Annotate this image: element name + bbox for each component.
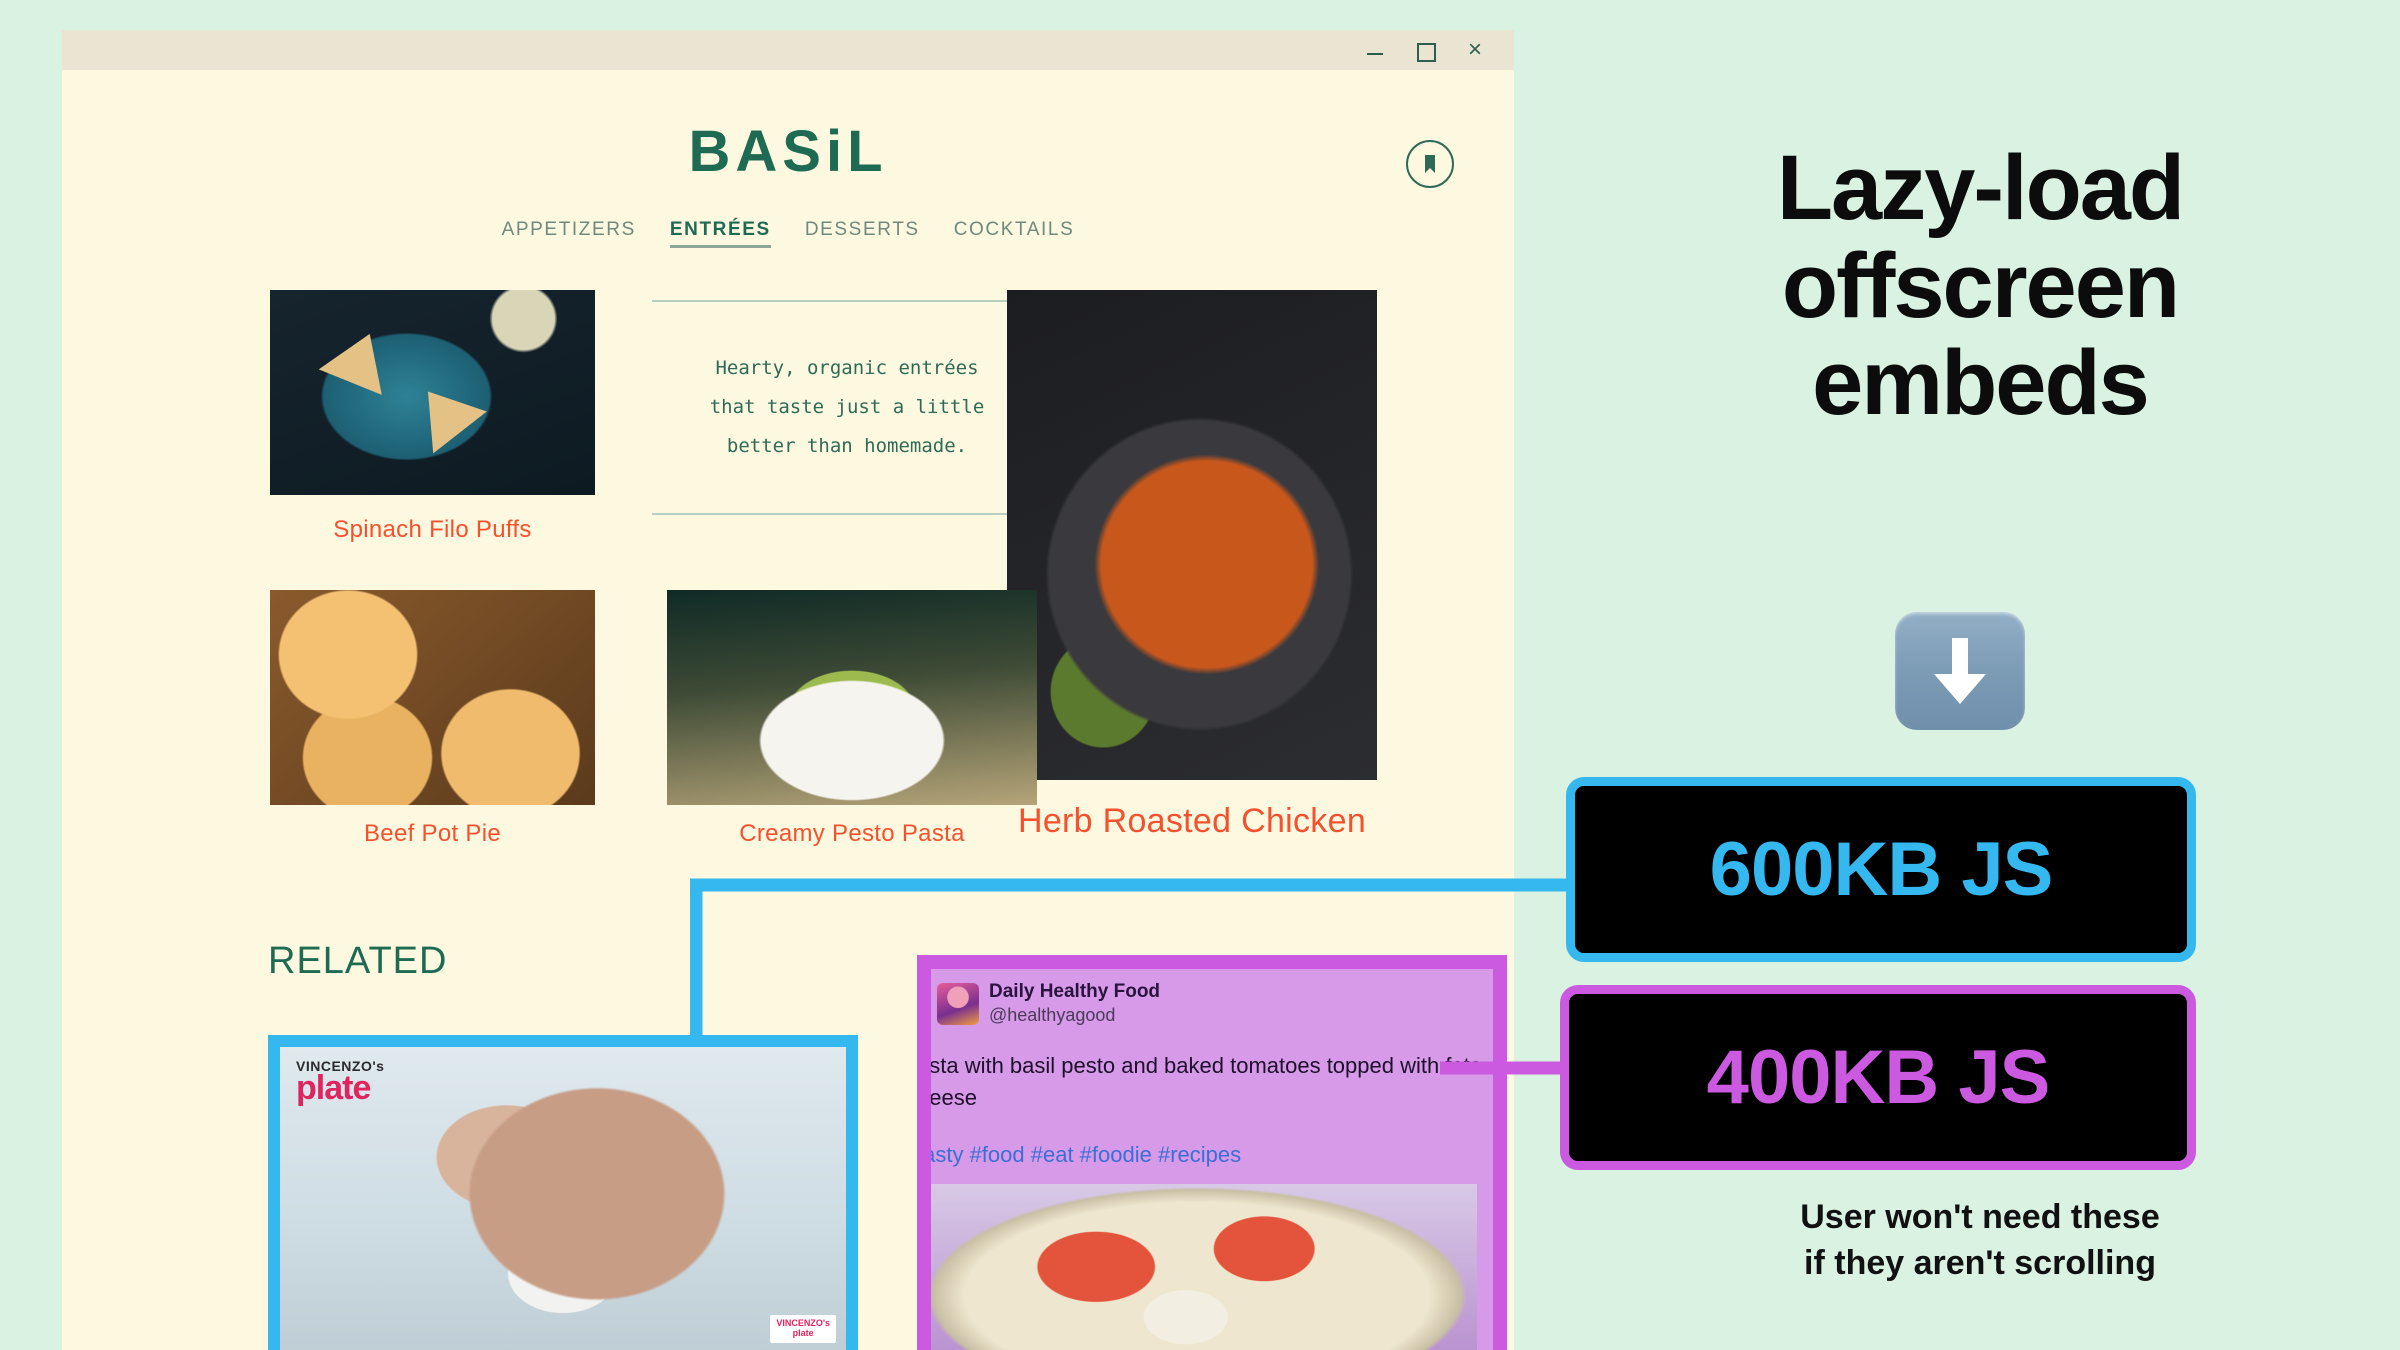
logo-line-2: plate — [296, 1071, 384, 1105]
tagline-line-3: better than homemade. — [710, 427, 985, 466]
minimize-icon[interactable] — [1364, 39, 1386, 61]
footnote-line-1: User won't need these — [1650, 1195, 2310, 1241]
dish-photo-herb-roasted-chicken[interactable] — [1007, 290, 1377, 780]
badge-400kb-js: 400KB JS — [1560, 985, 2196, 1170]
annotation-headline: Lazy-load offscreen embeds — [1660, 140, 2300, 433]
footnote-line-2: if they aren't scrolling — [1650, 1241, 2310, 1287]
site-brand: BASiL — [62, 118, 1514, 185]
site-header: BASiL APPETIZERS ENTRÉES DESSERTS COCKTA… — [62, 70, 1514, 248]
dish-caption-creamy-pesto-pasta: Creamy Pesto Pasta — [667, 820, 1037, 848]
tagline-text: Hearty, organic entrées that taste just … — [710, 349, 985, 466]
post-body-line-1: asta with basil pesto and baked tomatoes… — [917, 1050, 1485, 1082]
nav-item-entrees[interactable]: ENTRÉES — [670, 219, 771, 248]
annotation-footnote: User won't need these if they aren't scr… — [1650, 1195, 2310, 1287]
close-icon[interactable]: × — [1464, 39, 1486, 61]
tagline-line-2: that taste just a little — [710, 388, 985, 427]
post-hashtags[interactable]: tasty #food #eat #foodie #recipes — [917, 1114, 1493, 1168]
bookmark-icon[interactable] — [1406, 140, 1454, 188]
download-arrow-icon — [1895, 612, 2025, 730]
window-titlebar: × — [62, 30, 1514, 70]
dish-photo-beef-pot-pie[interactable] — [270, 590, 595, 805]
maximize-icon[interactable] — [1414, 39, 1436, 61]
badge-600kb-js: 600KB JS — [1566, 777, 2196, 962]
nav-item-desserts[interactable]: DESSERTS — [805, 219, 920, 248]
dish-photo-creamy-pesto-pasta[interactable] — [667, 590, 1037, 805]
video-watermark: VINCENZO's plate — [770, 1315, 836, 1343]
tagline-block: Hearty, organic entrées that taste just … — [652, 300, 1042, 515]
food-image — [1007, 290, 1377, 780]
post-body: asta with basil pesto and baked tomatoes… — [917, 1032, 1493, 1114]
video-thumbnail: VINCENZO's plate VINCENZO's plate — [280, 1047, 846, 1350]
watermark-line-2: plate — [776, 1329, 830, 1339]
food-image — [270, 290, 595, 495]
food-image — [270, 590, 595, 805]
dish-caption-herb-roasted-chicken: Herb Roasted Chicken — [1007, 802, 1377, 841]
site-nav: APPETIZERS ENTRÉES DESSERTS COCKTAILS — [62, 219, 1514, 248]
post-body-line-2: heese — [917, 1082, 1485, 1114]
nav-item-cocktails[interactable]: COCKTAILS — [954, 219, 1075, 248]
browser-page-mock: × BASiL APPETIZERS ENTRÉES DESSERTS COCK… — [62, 30, 1514, 1350]
youtube-video-embed[interactable]: VINCENZO's plate VINCENZO's plate — [268, 1035, 858, 1350]
food-image — [667, 590, 1037, 805]
tagline-line-1: Hearty, organic entrées — [710, 349, 985, 388]
dish-caption-beef-pot-pie: Beef Pot Pie — [270, 820, 595, 848]
dish-caption-spinach-filo-puffs: Spinach Filo Puffs — [270, 516, 595, 544]
nav-item-appetizers[interactable]: APPETIZERS — [502, 219, 636, 248]
dish-grid: Spinach Filo Puffs Hearty, organic entré… — [62, 290, 1514, 820]
dish-photo-spinach-filo-puffs[interactable] — [270, 290, 595, 495]
vincenzos-plate-logo: VINCENZO's plate — [296, 1059, 384, 1105]
related-heading: RELATED — [268, 940, 447, 983]
post-image — [917, 1184, 1477, 1350]
